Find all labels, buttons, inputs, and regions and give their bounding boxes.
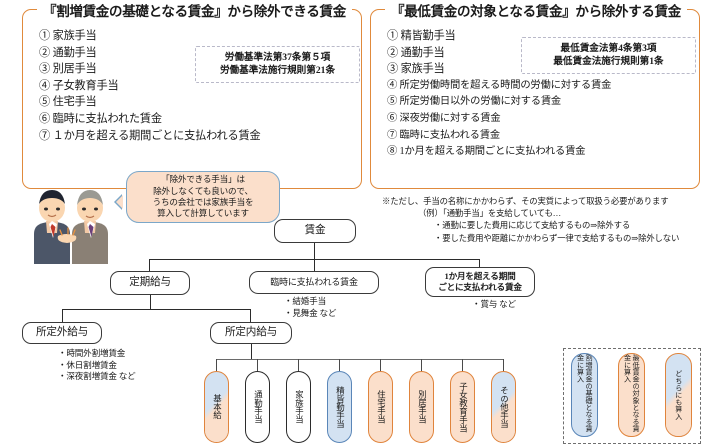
- bullet-item: ・休日割増賃金: [58, 360, 136, 372]
- panel-overtime-base-exclusions: 『割増賃金の基礎となる賃金』から除外できる賃金 ① 家族手当 ② 通勤手当 ③ …: [22, 9, 362, 189]
- speech-line: 「除外できる手当」は: [153, 174, 254, 185]
- bullets-over-one-month: ・賞与 など: [472, 299, 516, 311]
- speech-line: うちの会社では家族手当を: [153, 197, 254, 208]
- pill-allowance: その他手当: [491, 371, 516, 443]
- tree-node-scheduled-pay: 所定内給与: [210, 322, 292, 344]
- speech-bubble: 「除外できる手当」は 除外しなくても良いので、 うちの会社では家族手当を 算入し…: [126, 171, 280, 223]
- pill-allowance: 精皆勤手当: [327, 371, 352, 443]
- panel-right-title: 『最低賃金の対象となる賃金』から除外する賃金: [385, 0, 687, 20]
- pill-label: 基本給: [205, 372, 228, 442]
- law-citation-box-left: 労働基準法第37条第５項 労働基準法施行規則第21条: [195, 46, 360, 83]
- tree-node-over-one-month: 1か月を超える期間 ごとに支払われる賃金: [425, 267, 535, 297]
- tree-connector: [314, 243, 315, 260]
- list-item: ⑦ 臨時に支払われる賃金: [387, 128, 611, 145]
- speech-bubble-text: 「除外できる手当」は 除外しなくても良いので、 うちの会社では家族手当を 算入し…: [153, 174, 254, 219]
- law-citation-line: 最低賃金法施行規則第1条: [530, 55, 687, 68]
- tree-node-label: 定期給与: [129, 277, 171, 289]
- tree-node-regular-pay: 定期給与: [110, 271, 190, 295]
- tree-connector: [250, 309, 251, 323]
- panel-minimum-wage-exclusions: 『最低賃金の対象となる賃金』から除外する賃金 ① 精皆勤手当 ② 通勤手当 ③ …: [370, 9, 700, 189]
- note-line: ※ただし、手当の名称にかかわらず、その実質によって取扱う必要があります: [372, 196, 702, 208]
- tree-node-label: 賃金: [305, 225, 326, 237]
- law-citation-line: 最低賃金法第4条第3項: [530, 42, 687, 55]
- pill-label: 別居手当: [410, 372, 433, 442]
- legend-pill-overtime-base: 割増賃金の基礎となる賃金に算入: [571, 353, 598, 437]
- pill-allowance: 家族手当: [286, 371, 311, 443]
- tree-connector: [62, 309, 63, 323]
- tree-connector: [251, 344, 252, 360]
- tree-connector: [216, 359, 504, 360]
- tree-connector: [62, 309, 251, 310]
- pill-allowance: 別居手当: [409, 371, 434, 443]
- bullet-item: ・結婚手当: [284, 296, 336, 308]
- list-item: ⑥ 深夜労働に対する賃金: [387, 111, 611, 128]
- note-line: （例）「通勤手当」を支給していても…: [372, 208, 702, 220]
- list-item: ⑤ 住宅手当: [39, 94, 260, 111]
- notes-block: ※ただし、手当の名称にかかわらず、その実質によって取扱う必要があります （例）「…: [372, 196, 702, 245]
- bullet-item: ・見舞金 など: [284, 308, 336, 320]
- pill-allowance: 基本給: [204, 371, 229, 443]
- law-citation-line: 労働基準法第37条第５項: [204, 51, 351, 64]
- speech-line: 除外しなくても良いので、: [153, 186, 254, 197]
- note-line: ・通勤に要した費用に応じて支給するもの⇒除外する: [372, 220, 702, 232]
- list-item: ① 家族手当: [39, 28, 260, 45]
- pill-label: その他手当: [492, 372, 515, 442]
- tree-node-label: 臨時に支払われる賃金: [270, 276, 358, 288]
- legend-label: 最低賃金の対象となる賃金に算入: [619, 354, 644, 436]
- tree-node-label-line1: 1か月を超える期間: [445, 271, 516, 282]
- pill-label: 住宅手当: [369, 372, 392, 442]
- tree-node-temporary-wage: 臨時に支払われる賃金: [249, 271, 379, 294]
- tree-connector: [150, 295, 151, 310]
- legend-box: 割増賃金の基礎となる賃金に算入 最低賃金の対象となる賃金に算入 どちらにも算入: [563, 348, 701, 444]
- bullet-item: ・時間外割増賃金: [58, 348, 136, 360]
- bullet-item: ・深夜割増賃金 など: [58, 371, 136, 383]
- pill-label: 精皆勤手当: [328, 372, 351, 442]
- note-line: ・要した費用や距離にかかわらず一律で支給するもの⇒除外しない: [372, 233, 702, 245]
- person-right-icon: [72, 190, 108, 264]
- pill-allowance: 通勤手当: [245, 371, 270, 443]
- pill-label: 通勤手当: [246, 372, 269, 442]
- law-citation-box-right: 最低賃金法第4条第3項 最低賃金法施行規則第1条: [521, 37, 696, 74]
- list-item: ⑤ 所定労働日以外の労働に対する賃金: [387, 94, 611, 111]
- tree-node-label: 所定内給与: [225, 327, 277, 339]
- legend-label: どちらにも算入: [666, 354, 691, 436]
- pill-label: 子女教育手当: [451, 372, 474, 442]
- legend-pill-minimum-wage: 最低賃金の対象となる賃金に算入: [618, 353, 645, 437]
- list-item: ⑦ １か月を超える期間ごとに支払われる賃金: [39, 128, 260, 145]
- businessmen-handshake-illustration: [16, 172, 120, 264]
- tree-node-label-line2: ごとに支払われる賃金: [438, 282, 522, 293]
- tree-node-wage-root: 賃金: [274, 219, 356, 243]
- tree-node-label: 所定外給与: [36, 327, 88, 339]
- bullets-non-scheduled-pay: ・時間外割増賃金 ・休日割増賃金 ・深夜割増賃金 など: [58, 348, 136, 383]
- pill-allowance: 子女教育手当: [450, 371, 475, 443]
- person-left-icon: [34, 190, 70, 264]
- pill-label: 家族手当: [287, 372, 310, 442]
- bullet-item: ・賞与 など: [472, 299, 516, 311]
- speech-line: 算入して計算しています: [153, 208, 254, 219]
- tree-node-non-scheduled-pay: 所定外給与: [22, 322, 102, 344]
- list-item: ⑥ 臨時に支払われた賃金: [39, 111, 260, 128]
- law-citation-line: 労働基準法施行規則第21条: [204, 64, 351, 77]
- list-item: ④ 所定労働時間を超える時間の労働に対する賃金: [387, 78, 611, 95]
- legend-label: 割増賃金の基礎となる賃金に算入: [572, 354, 597, 436]
- pill-allowance: 住宅手当: [368, 371, 393, 443]
- legend-pill-both: どちらにも算入: [665, 353, 692, 437]
- list-item: ⑧ 1か月を超える期間ごとに支払われる賃金: [387, 144, 611, 161]
- bullets-temporary-wage: ・結婚手当 ・見舞金 など: [284, 296, 336, 319]
- panel-left-title: 『割増賃金の基礎となる賃金』から除外できる賃金: [37, 0, 352, 20]
